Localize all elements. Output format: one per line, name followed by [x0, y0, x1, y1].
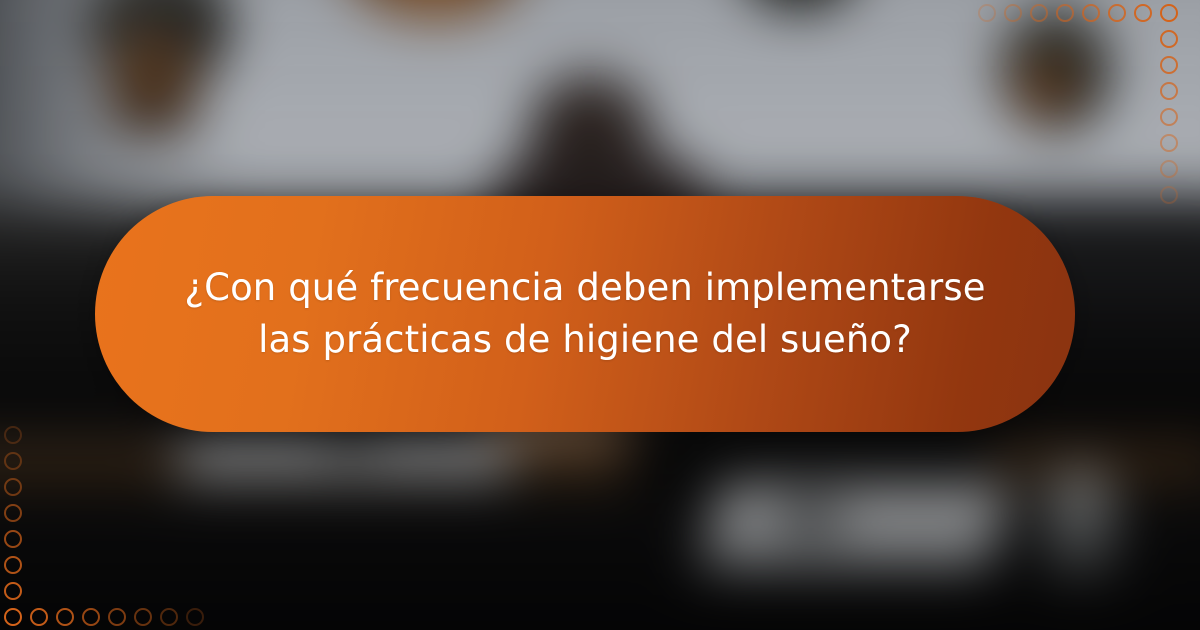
decorative-dot [4, 504, 22, 522]
decorative-dot [1108, 4, 1126, 22]
decorative-dot [1134, 4, 1152, 22]
decorative-dots-bottom-left [0, 422, 226, 630]
decorative-dot [56, 608, 74, 626]
decorative-dots-top-right [974, 0, 1200, 226]
decorative-dot [82, 608, 100, 626]
decorative-dot [134, 608, 152, 626]
decorative-dot [1004, 4, 1022, 22]
decorative-dot [1160, 186, 1178, 204]
laptop-keyboard-deck [699, 485, 1010, 570]
poster-canvas: ¿Con qué frecuencia deben implementarse … [0, 0, 1200, 630]
decorative-dot [4, 478, 22, 496]
decorative-dot [1056, 4, 1074, 22]
question-line-2: las prácticas de higiene del sueño? [258, 318, 912, 361]
decorative-dot [1030, 4, 1048, 22]
plant-pot-icon [110, 35, 196, 133]
question-line-1: ¿Con qué frecuencia deben implementarse [184, 266, 985, 309]
decorative-dot [1160, 4, 1178, 22]
decorative-dot [186, 608, 204, 626]
decorative-dot [1160, 30, 1178, 48]
decorative-dot [1160, 56, 1178, 74]
bottle-shape [1045, 470, 1115, 580]
decorative-dot [1160, 134, 1178, 152]
decorative-dot [4, 426, 22, 444]
decorative-dot [1160, 108, 1178, 126]
decorative-dot [4, 582, 22, 600]
decorative-dot [1160, 160, 1178, 178]
decorative-dot [30, 608, 48, 626]
decorative-dot [4, 452, 22, 470]
decorative-dot [4, 556, 22, 574]
decorative-dot [1160, 82, 1178, 100]
trackpad-shape [780, 505, 842, 535]
decorative-dot [4, 530, 22, 548]
decorative-dot [978, 4, 996, 22]
decorative-dot [108, 608, 126, 626]
decorative-dot [4, 608, 22, 626]
question-card: ¿Con qué frecuencia deben implementarse … [95, 196, 1075, 432]
question-text: ¿Con qué frecuencia deben implementarse … [114, 262, 1055, 366]
decorative-dot [1082, 4, 1100, 22]
decorative-dot [160, 608, 178, 626]
